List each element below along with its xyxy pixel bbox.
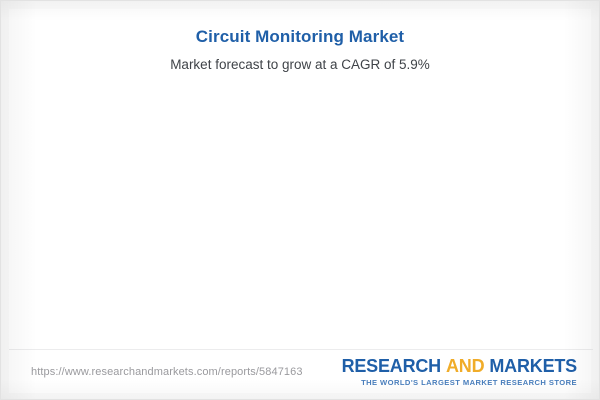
plot-area: USD 781.15 Million xyxy=(9,9,591,393)
chart-canvas: Circuit Monitoring Market Market forecas… xyxy=(9,9,591,393)
logo-word-markets: MARKETS xyxy=(489,356,577,376)
logo-word-research: RESEARCH xyxy=(342,356,441,376)
source-url[interactable]: https://www.researchandmarkets.com/repor… xyxy=(31,366,303,378)
footer-divider xyxy=(9,349,593,350)
chart-image-frame: Circuit Monitoring Market Market forecas… xyxy=(0,0,600,400)
logo-tagline: THE WORLD'S LARGEST MARKET RESEARCH STOR… xyxy=(342,378,577,387)
research-and-markets-logo[interactable]: RESEARCHANDMARKETS THE WORLD'S LARGEST M… xyxy=(342,357,577,387)
logo-word-and: AND xyxy=(446,356,484,376)
logo-wordmark: RESEARCHANDMARKETS xyxy=(342,357,577,376)
